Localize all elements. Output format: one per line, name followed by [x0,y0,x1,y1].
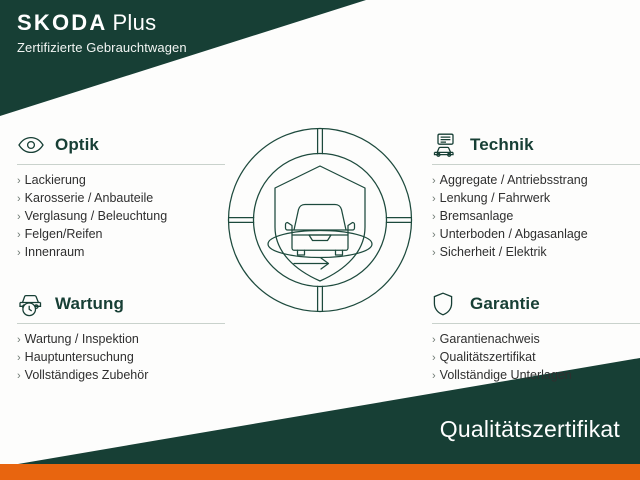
list-item: ›Sicherheit / Elektrik [432,244,640,262]
list-item: ›Unterboden / Abgasanlage [432,226,640,244]
list-item: ›Vollständige Unterlagen [432,367,640,385]
feature-group-header: Wartung [17,289,225,319]
certificate-graphic: SKODAPlus Zertifizierte Gebrauchtwagen O… [0,0,640,480]
brand-suffix: Plus [112,10,156,35]
feature-list: ›Lackierung ›Karosserie / Anbauteile ›Ve… [17,172,225,262]
list-item: ›Qualitätszertifikat [432,349,640,367]
list-item: ›Bremsanlage [432,208,640,226]
list-item-label: Karosserie / Anbauteile [25,190,154,207]
list-item: ›Karosserie / Anbauteile [17,190,225,208]
divider [432,164,640,165]
brand-title: SKODAPlus [17,12,187,34]
list-item-label: Lenkung / Fahrwerk [440,190,550,207]
list-item-label: Wartung / Inspektion [25,331,139,348]
list-item-label: Aggregate / Antriebsstrang [440,172,588,189]
list-item-label: Unterboden / Abgasanlage [440,226,588,243]
feature-group-title: Technik [470,135,534,155]
feature-group-header: Optik [17,130,225,160]
feature-column-right: Technik ›Aggregate / Antriebsstrang ›Len… [432,130,640,385]
brand-lockup: SKODAPlus Zertifizierte Gebrauchtwagen [17,12,187,54]
feature-group-header: Garantie [432,289,640,319]
feature-column-left: Optik ›Lackierung ›Karosserie / Anbautei… [17,130,225,385]
chevron-right-icon: › [432,227,436,244]
list-item-label: Lackierung [25,172,86,189]
list-item: ›Felgen/Reifen [17,226,225,244]
list-item: ›Garantienachweis [432,331,640,349]
chevron-right-icon: › [432,245,436,262]
list-item-label: Vollständiges Zubehör [25,367,149,384]
feature-group-optik: Optik ›Lackierung ›Karosserie / Anbautei… [17,130,225,262]
outer-ring-quadrants [229,129,412,312]
feature-group-wartung: Wartung ›Wartung / Inspektion ›Hauptunte… [17,289,225,385]
list-item: ›Innenraum [17,244,225,262]
chevron-right-icon: › [17,245,21,262]
list-item-label: Vollständige Unterlagen [440,367,572,384]
orange-accent-bar [0,464,640,480]
feature-group-title: Garantie [470,294,540,314]
feature-group-title: Optik [55,135,99,155]
list-item-label: Felgen/Reifen [25,226,103,243]
car-shield-inspection-emblem [226,126,414,322]
list-item: ›Wartung / Inspektion [17,331,225,349]
list-item: ›Vollständiges Zubehör [17,367,225,385]
list-item-label: Garantienachweis [440,331,540,348]
chevron-right-icon: › [17,227,21,244]
eye-icon [17,131,47,159]
footer-caption: Qualitätszertifikat [440,416,620,443]
chevron-right-icon: › [17,368,21,385]
chevron-right-icon: › [432,209,436,226]
feature-list: ›Garantienachweis ›Qualitätszertifikat ›… [432,331,640,385]
inner-ring-quadrants [254,154,387,287]
feature-group-header: Technik [432,130,640,160]
list-item: ›Hauptuntersuchung [17,349,225,367]
chevron-right-icon: › [17,332,21,349]
car-service-clock-icon [17,290,47,318]
list-item-label: Sicherheit / Elektrik [440,244,547,261]
brand-tagline: Zertifizierte Gebrauchtwagen [17,41,187,54]
list-item-label: Verglasung / Beleuchtung [25,208,167,225]
list-item-label: Innenraum [25,244,85,261]
list-item-label: Hauptuntersuchung [25,349,134,366]
list-item: ›Lackierung [17,172,225,190]
list-item: ›Aggregate / Antriebsstrang [432,172,640,190]
chevron-right-icon: › [432,173,436,190]
shield-icon [432,290,462,318]
divider [17,323,225,324]
chevron-right-icon: › [17,350,21,367]
list-item: ›Verglasung / Beleuchtung [17,208,225,226]
radial-spokes [229,129,412,312]
car-front-view [286,205,355,256]
chevron-right-icon: › [432,332,436,349]
list-item: ›Lenkung / Fahrwerk [432,190,640,208]
feature-list: ›Aggregate / Antriebsstrang ›Lenkung / F… [432,172,640,262]
chevron-right-icon: › [432,368,436,385]
chevron-right-icon: › [17,173,21,190]
chevron-right-icon: › [432,191,436,208]
chevron-right-icon: › [432,350,436,367]
divider [17,164,225,165]
feature-group-title: Wartung [55,294,124,314]
list-item-label: Bremsanlage [440,208,514,225]
feature-group-garantie: Garantie ›Garantienachweis ›Qualitätszer… [432,289,640,385]
divider [432,323,640,324]
car-lift-icon [432,131,462,159]
list-item-label: Qualitätszertifikat [440,349,536,366]
chevron-right-icon: › [17,209,21,226]
feature-group-technik: Technik ›Aggregate / Antriebsstrang ›Len… [432,130,640,262]
chevron-right-icon: › [17,191,21,208]
feature-list: ›Wartung / Inspektion ›Hauptuntersuchung… [17,331,225,385]
brand-wordmark: SKODA [17,10,107,35]
